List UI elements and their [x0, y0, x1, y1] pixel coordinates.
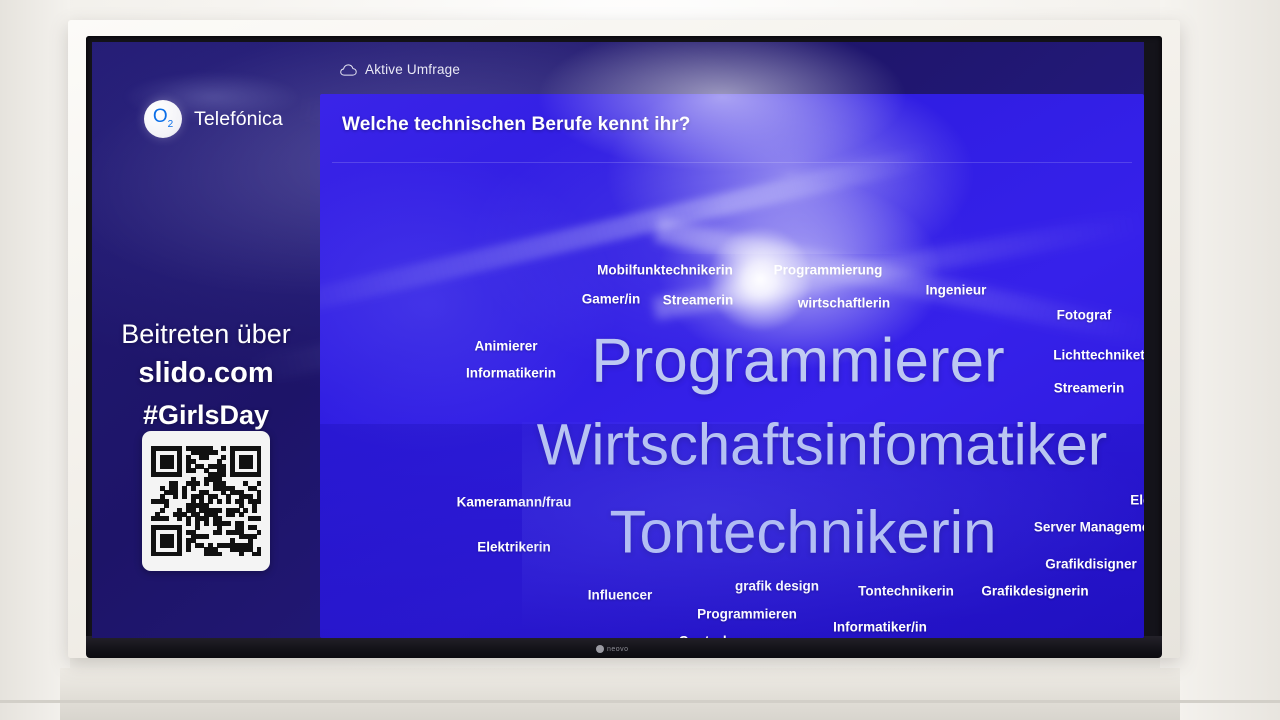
word-cloud-item: Fotograf [1057, 308, 1112, 323]
cloud-icon [340, 64, 357, 76]
brand-label: neovo [607, 646, 629, 653]
word-cloud-item: Streamerin [1054, 381, 1125, 396]
word-cloud-item: Mobilfunktechnikerin [597, 263, 733, 278]
join-prefix: Beitreten über [92, 317, 320, 351]
word-cloud-item: Gamer/in [582, 292, 641, 307]
word-cloud-item: Programmierung [774, 263, 883, 278]
brand-name: Telefónica [194, 108, 283, 131]
telefonica-logo: O2 Telefónica [144, 100, 283, 138]
word-cloud: MobilfunktechnikerinProgrammierungGamer/… [320, 94, 1144, 638]
word-cloud-item: Streamerin [663, 293, 734, 308]
poll-status-label: Aktive Umfrage [365, 62, 460, 77]
word-cloud-item: Tontechnikerin [858, 584, 954, 599]
word-cloud-item: Elektrikerin [477, 540, 551, 555]
wall-shadow-left [0, 0, 70, 720]
join-url: slido.com [92, 351, 320, 395]
word-cloud-item: Grafikdisigner [1045, 557, 1137, 572]
poll-status-bar: Aktive Umfrage [340, 62, 460, 77]
word-cloud-item: Server Management [1034, 520, 1144, 535]
word-cloud-item: Informatikerin [466, 366, 556, 381]
qr-code-image [151, 446, 261, 556]
qr-code[interactable] [142, 431, 270, 571]
word-cloud-item: Lichttechniket [1053, 348, 1144, 363]
word-cloud-item: Ingenieur [926, 283, 987, 298]
word-cloud-item: Programmieren [697, 607, 797, 622]
display-brand-badge: neovo [596, 645, 629, 653]
word-cloud-item: Kameramann/frau [457, 495, 572, 510]
word-cloud-item: Controler [679, 634, 740, 639]
word-cloud-item: Tontechnikerin [610, 498, 997, 567]
join-instructions: Beitreten über slido.com #GirlsDay [92, 317, 320, 435]
join-hashtag: #GirlsDay [92, 395, 320, 435]
wall-ledge [60, 668, 1180, 720]
word-cloud-item: Animierer [474, 339, 537, 354]
left-rail: O2 Telefónica Beitreten über slido.com #… [92, 42, 320, 638]
word-cloud-item: wirtschaftlerin [798, 296, 890, 311]
word-cloud-item: Elektriker [1130, 493, 1144, 508]
word-cloud-panel: Welche technischen Berufe kennt ihr? Mob… [320, 94, 1144, 638]
word-cloud-item: grafik design [735, 579, 819, 594]
brand-logo-icon [596, 645, 604, 653]
wall-ledge-line [0, 700, 1280, 703]
o2-logo-icon: O2 [144, 100, 182, 138]
word-cloud-item: Influencer [588, 588, 653, 603]
word-cloud-item: Grafikdesignerin [981, 584, 1088, 599]
screen: O2 Telefónica Beitreten über slido.com #… [92, 42, 1144, 638]
word-cloud-item: Informatiker/in [833, 620, 927, 635]
o2-logo-text: O2 [153, 104, 173, 138]
word-cloud-item: Programmierer [591, 326, 1004, 397]
word-cloud-item: Wirtschaftsinfomatiker [537, 412, 1107, 479]
